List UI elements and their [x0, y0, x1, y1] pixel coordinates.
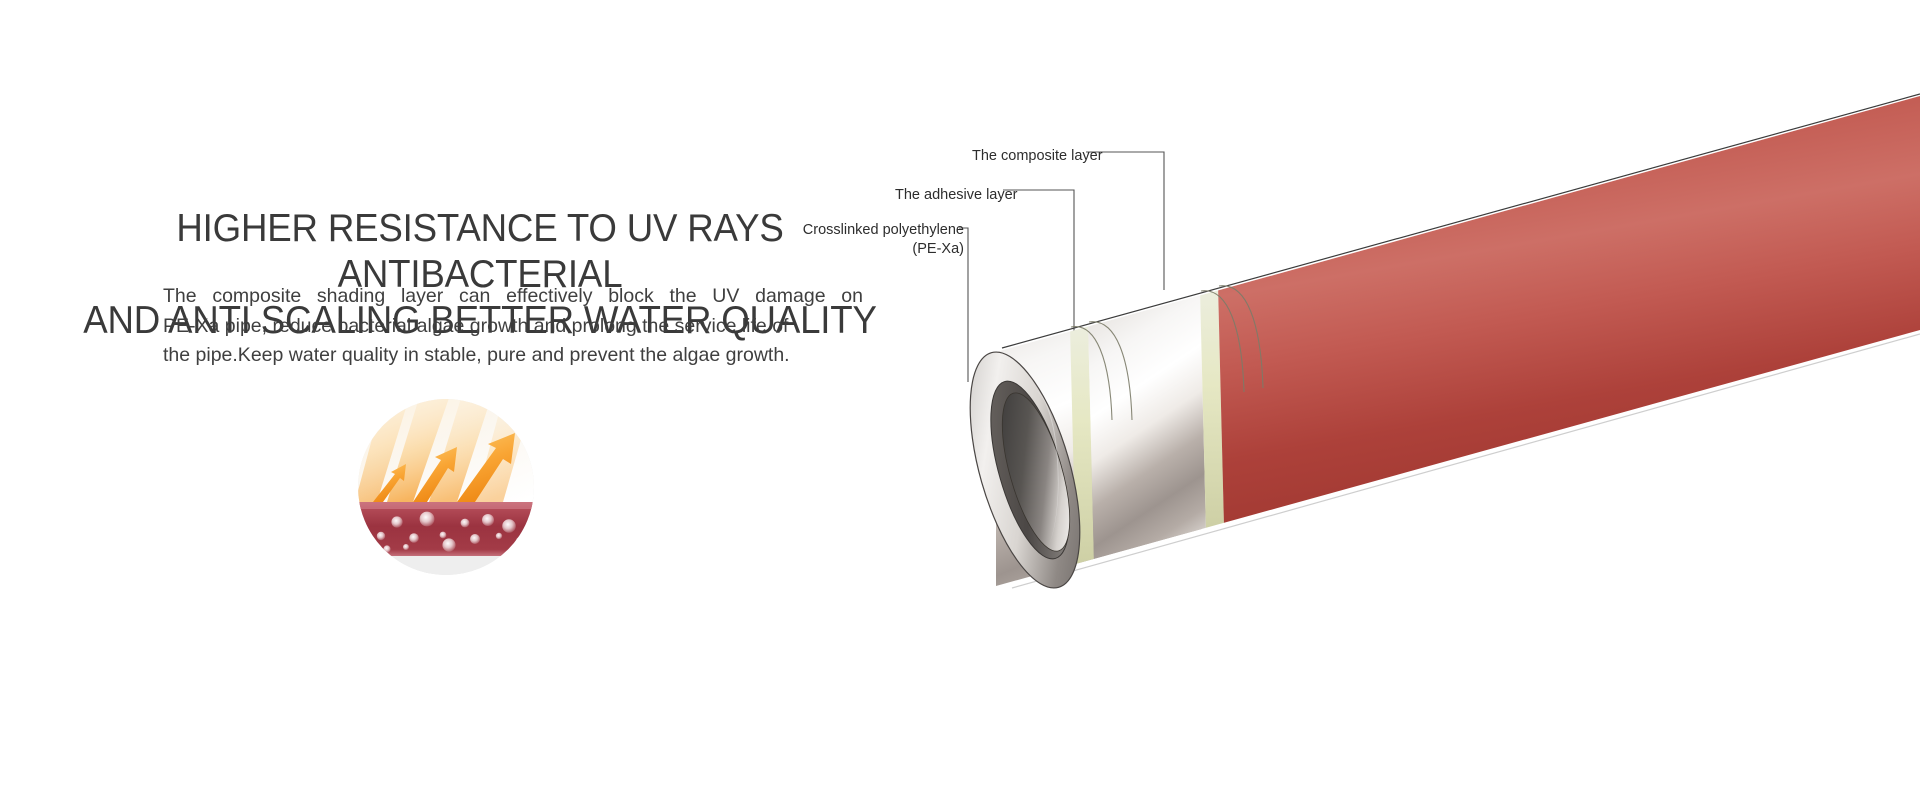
callout-label-pexa: Crosslinked polyethylene (PE-Xa) — [794, 221, 964, 259]
callout-label-composite-layer: The composite layer — [972, 147, 1103, 166]
body-line-3: the pipe.Keep water quality in stable, p… — [163, 341, 863, 371]
uv-blocking-icon — [357, 398, 535, 576]
uv-resistance-feature-panel: HIGHER RESISTANCE TO UV RAYS ANTIBACTERI… — [0, 0, 1920, 800]
pipe-cutaway-illustration: The composite layer The adhesive layer C… — [950, 0, 1920, 800]
callout-label-pexa-line-1: Crosslinked polyethylene — [794, 221, 964, 240]
text-column: HIGHER RESISTANCE TO UV RAYS ANTIBACTERI… — [0, 0, 950, 800]
pipe-barrel — [990, 88, 1920, 592]
callout-label-adhesive-layer: The adhesive layer — [895, 186, 1018, 205]
body-line-1: The composite shading layer can effectiv… — [163, 282, 863, 312]
callout-label-pexa-line-2: (PE-Xa) — [794, 240, 964, 259]
body-paragraph: The composite shading layer can effectiv… — [163, 282, 863, 371]
body-line-2: PE-Xa pipe, reduce bacterial algae growt… — [163, 312, 863, 342]
